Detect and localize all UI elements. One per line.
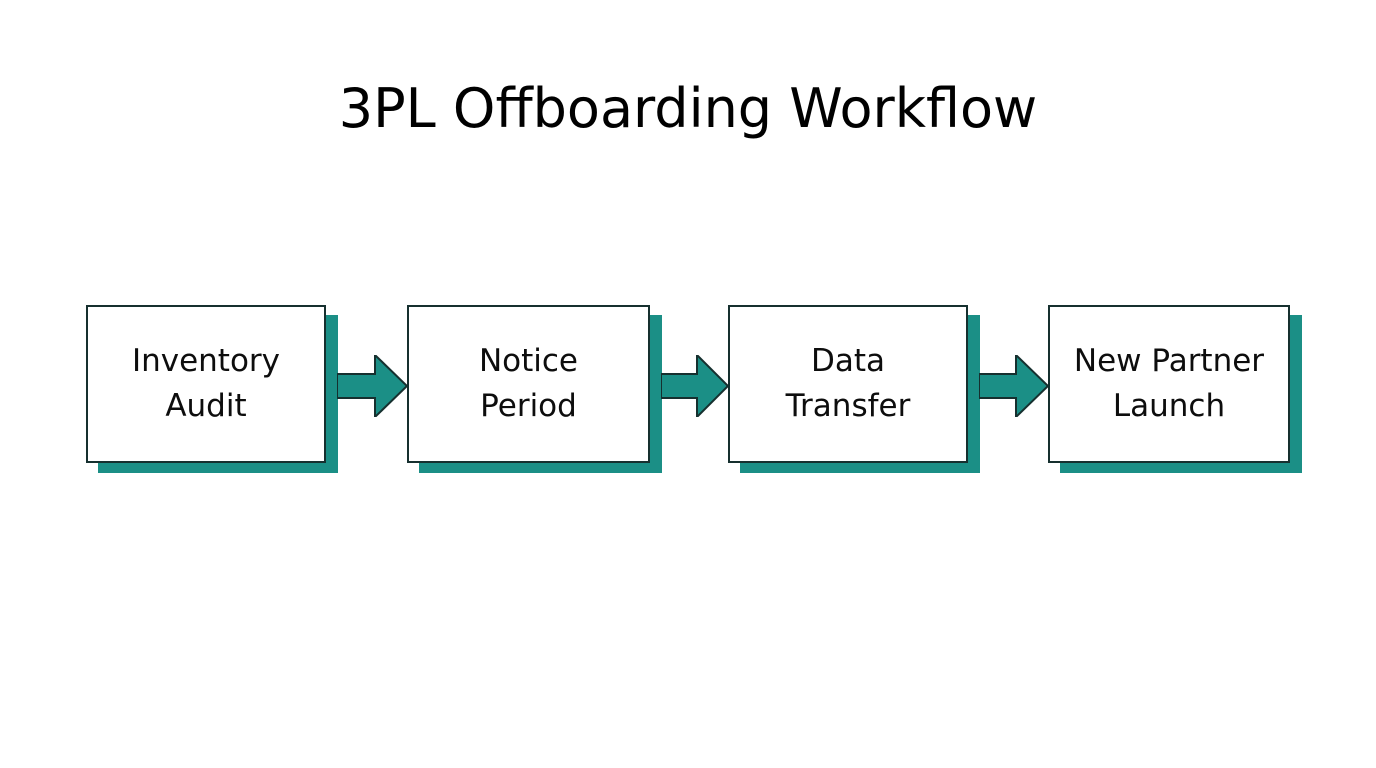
flow-node-label: New Partner Launch: [1066, 339, 1272, 429]
node-box[interactable]: Inventory Audit: [86, 305, 326, 463]
right-arrow-icon: [661, 355, 728, 417]
right-arrow-icon: [337, 355, 407, 417]
node-box[interactable]: Data Transfer: [728, 305, 968, 463]
node-box[interactable]: Notice Period: [407, 305, 650, 463]
flow-node-label: Notice Period: [471, 339, 586, 429]
flow-node-step-4[interactable]: New Partner Launch: [1048, 305, 1290, 463]
flow-node-step-2[interactable]: Notice Period: [407, 305, 650, 463]
flow-arrow-2: [661, 355, 728, 417]
process-flow-diagram: Inventory Audit Notice Period Da: [0, 0, 1376, 768]
flow-arrow-1: [337, 355, 407, 417]
flow-node-label: Data Transfer: [778, 339, 919, 429]
flow-arrow-3: [979, 355, 1048, 417]
node-box[interactable]: New Partner Launch: [1048, 305, 1290, 463]
slide-canvas: 3PL Offboarding Workflow Inventory Audit…: [0, 0, 1376, 768]
right-arrow-icon: [979, 355, 1048, 417]
flow-node-step-3[interactable]: Data Transfer: [728, 305, 968, 463]
flow-node-label: Inventory Audit: [124, 339, 288, 429]
flow-node-step-1[interactable]: Inventory Audit: [86, 305, 326, 463]
